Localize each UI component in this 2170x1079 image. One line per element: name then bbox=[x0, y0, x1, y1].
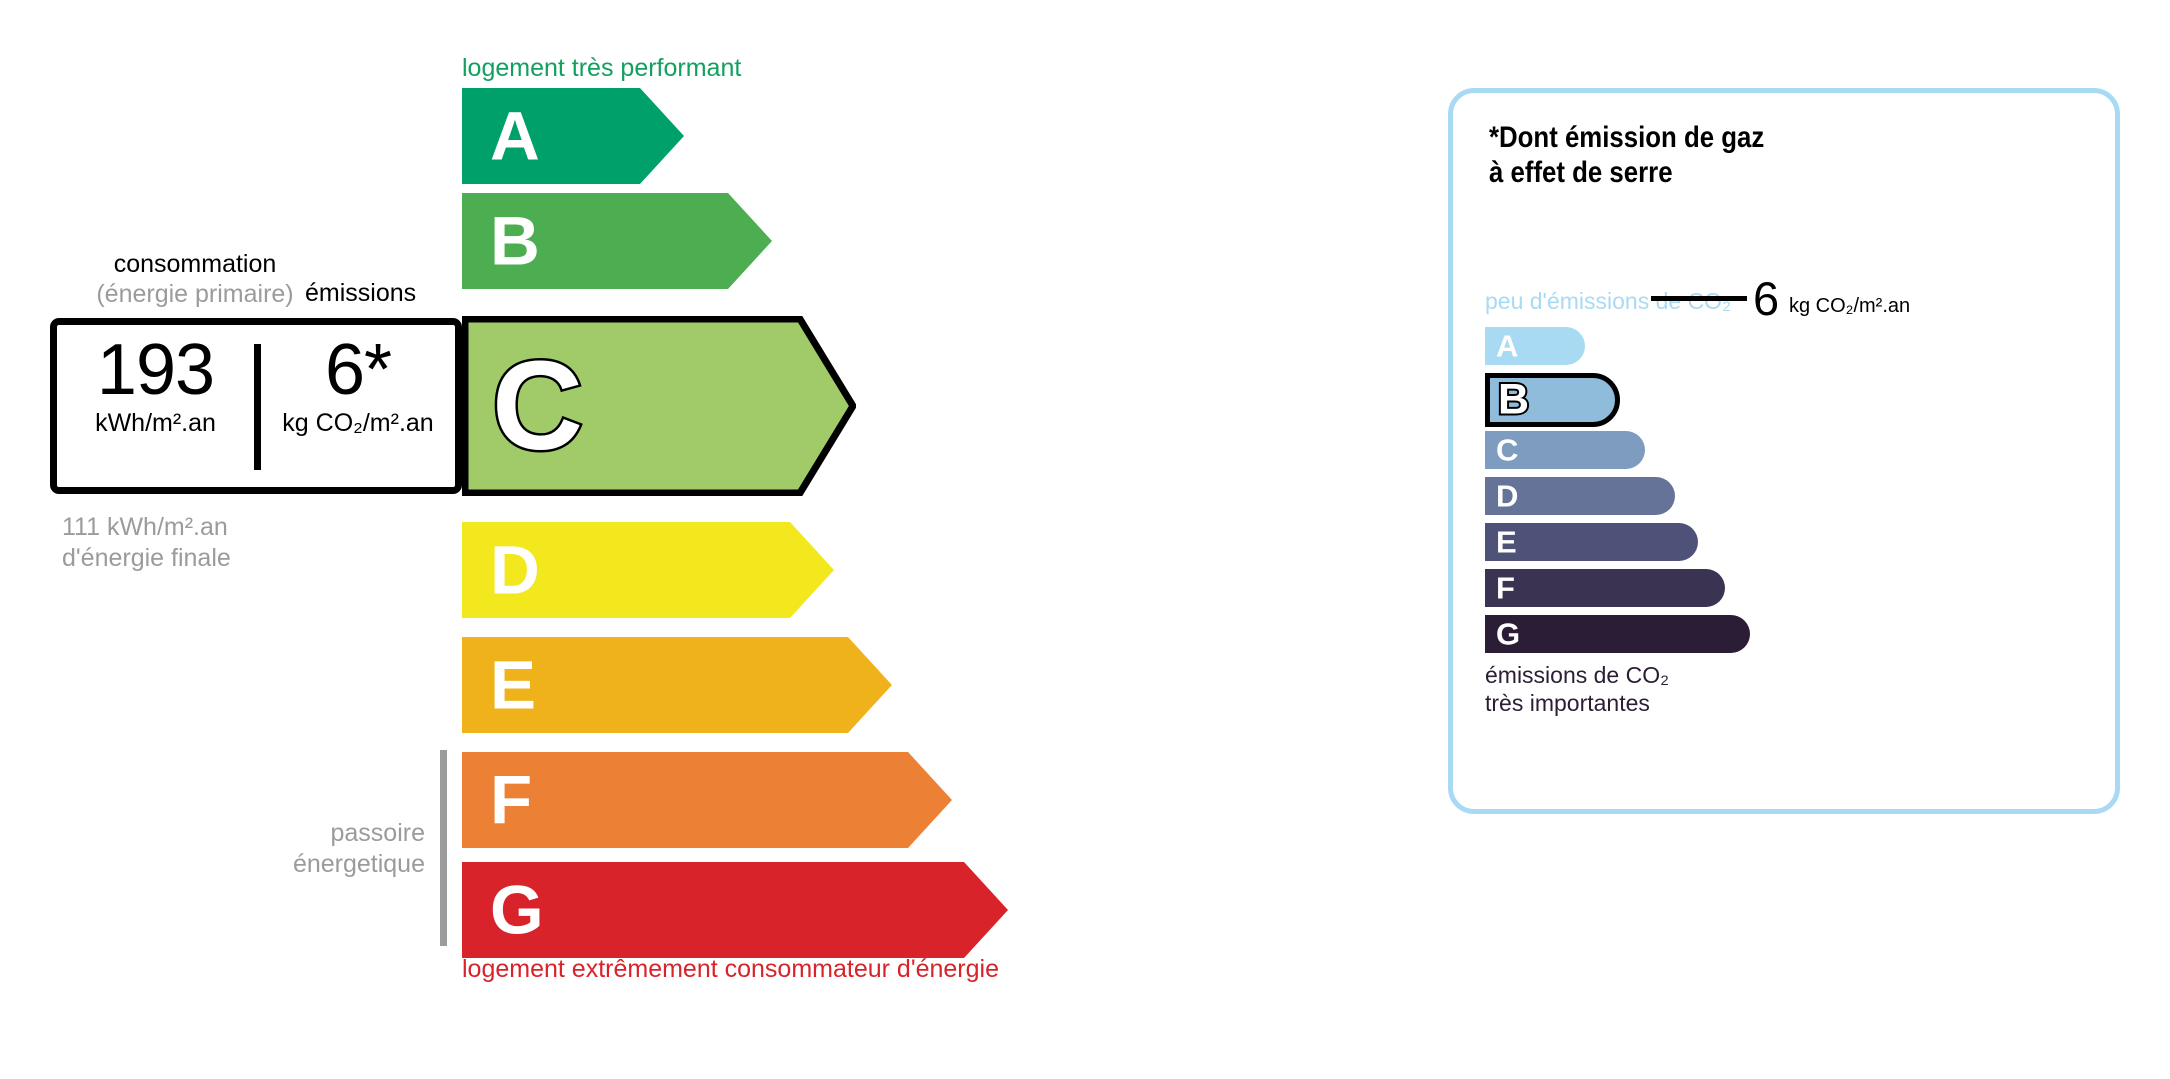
ges-bar-f-letter: F bbox=[1496, 573, 1515, 604]
ges-callout-leader-line bbox=[1651, 296, 1747, 301]
ges-bottom-line-2: très importantes bbox=[1485, 689, 1669, 717]
ges-bar-a-letter: A bbox=[1496, 331, 1518, 362]
final-energy-label: d'énergie finale bbox=[62, 543, 231, 574]
energy-bar-e-shape bbox=[462, 637, 892, 733]
ges-bar-d[interactable]: D bbox=[1485, 477, 1675, 515]
ges-bottom-line-1: émissions de CO₂ bbox=[1485, 661, 1669, 689]
ges-callout-unit: kg CO₂/m².an bbox=[1789, 296, 1910, 316]
ges-bar-g[interactable]: G bbox=[1485, 615, 1750, 653]
ges-bar-b-letter: B bbox=[1498, 379, 1529, 422]
energy-bar-g-shape bbox=[462, 862, 1008, 958]
energy-bar-a-shape bbox=[462, 88, 684, 184]
energy-bottom-caption: logement extrêmement consommateur d'éner… bbox=[462, 955, 999, 984]
energy-bar-d[interactable]: D bbox=[462, 522, 834, 618]
energy-bar-a[interactable]: A bbox=[462, 88, 684, 184]
ges-bar-e-letter: E bbox=[1496, 527, 1517, 558]
ges-bar-g-letter: G bbox=[1496, 619, 1520, 650]
energy-bar-b[interactable]: B bbox=[462, 193, 772, 289]
ges-bar-d-letter: D bbox=[1496, 481, 1518, 512]
primary-energy-unit: kWh/m².an bbox=[57, 410, 254, 438]
passoire-line-1: passoire bbox=[250, 818, 425, 849]
ges-panel-title: *Dont émission de gaz à effet de serre bbox=[1489, 120, 1764, 190]
energy-bar-f[interactable]: F bbox=[462, 752, 952, 848]
ges-bar-a[interactable]: A bbox=[1485, 327, 1585, 365]
energy-bar-c-selected[interactable]: C bbox=[462, 316, 856, 496]
energy-bar-b-shape bbox=[462, 193, 772, 289]
consumption-label: consommation bbox=[114, 250, 277, 278]
final-energy-note: 111 kWh/m².an d'énergie finale bbox=[62, 512, 231, 573]
ges-callout-value: 6 bbox=[1753, 275, 1779, 322]
primary-energy-value: 193 bbox=[57, 332, 254, 408]
ges-top-caption: peu d'émissions de CO₂ bbox=[1485, 288, 1731, 315]
emissions-value: 6* bbox=[261, 332, 455, 408]
greenhouse-gas-panel: *Dont émission de gaz à effet de serre p… bbox=[1448, 88, 2120, 814]
emissions-value-cell: 6* kg CO₂/m².an bbox=[261, 332, 455, 438]
ges-bar-c-letter: C bbox=[1496, 435, 1518, 466]
energy-performance-panel: logement très performant A B C D E bbox=[0, 0, 1400, 1079]
ges-bar-c[interactable]: C bbox=[1485, 431, 1645, 469]
energy-bar-f-shape bbox=[462, 752, 952, 848]
primary-energy-value-cell: 193 kWh/m².an bbox=[57, 332, 254, 438]
ges-bar-b-selected[interactable]: B bbox=[1485, 373, 1620, 427]
final-energy-value: 111 kWh/m².an bbox=[62, 512, 231, 543]
ges-bottom-caption: émissions de CO₂ très importantes bbox=[1485, 661, 1669, 717]
emissions-label: émissions bbox=[305, 279, 416, 308]
energy-bar-c-shape bbox=[462, 316, 856, 496]
consumption-sublabel: (énergie primaire) bbox=[70, 280, 320, 310]
energy-bar-e[interactable]: E bbox=[462, 637, 892, 733]
value-box-divider bbox=[254, 344, 261, 470]
passoire-bracket-line bbox=[440, 750, 447, 946]
ges-bar-f[interactable]: F bbox=[1485, 569, 1725, 607]
passoire-line-2: énergetique bbox=[250, 849, 425, 880]
ges-bar-e[interactable]: E bbox=[1485, 523, 1698, 561]
energy-bar-g[interactable]: G bbox=[462, 862, 1008, 958]
energy-bar-d-shape bbox=[462, 522, 834, 618]
emissions-unit: kg CO₂/m².an bbox=[261, 410, 455, 438]
ges-title-line-2: à effet de serre bbox=[1489, 155, 1764, 190]
passoire-energetique-label: passoire énergetique bbox=[250, 818, 425, 879]
energy-top-caption: logement très performant bbox=[462, 54, 741, 83]
ges-title-line-1: *Dont émission de gaz bbox=[1489, 120, 1764, 155]
consumption-label-group: consommation (énergie primaire) bbox=[70, 250, 320, 309]
